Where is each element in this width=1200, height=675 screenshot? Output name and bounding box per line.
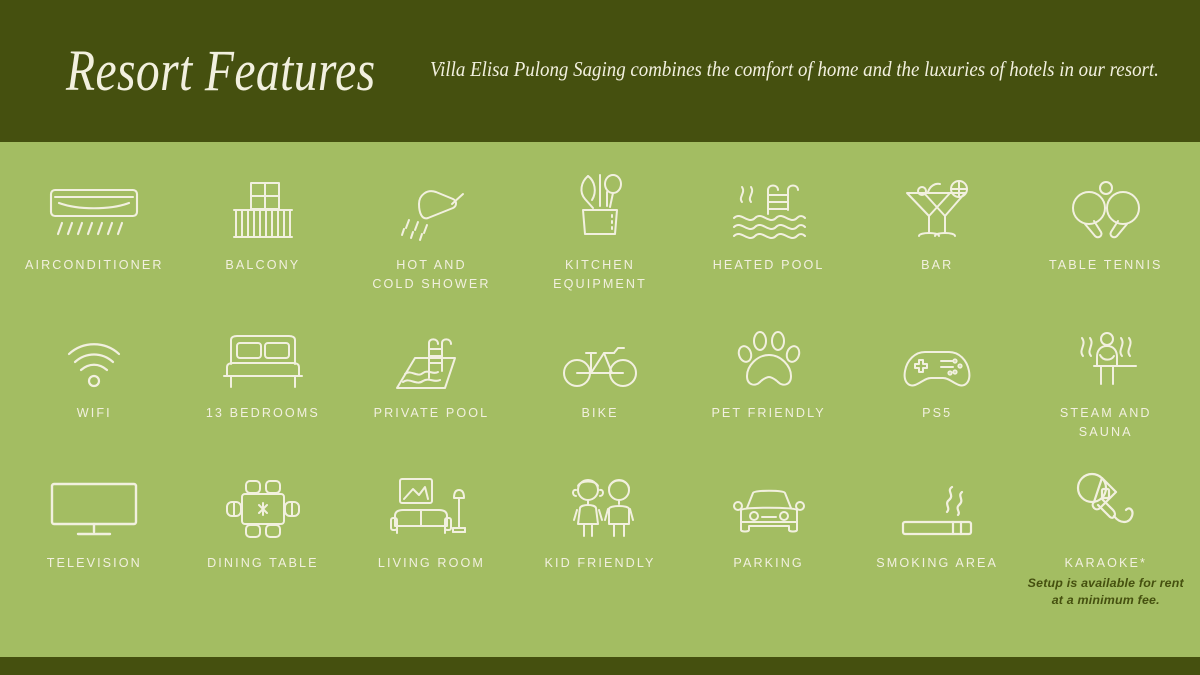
kitchen-utensils-icon [569, 170, 631, 242]
feature-label: DINING TABLE [207, 554, 319, 573]
feature-kitchen-equipment: KITCHEN EQUIPMENT [516, 170, 685, 320]
feature-label: STEAM AND SAUNA [1060, 404, 1152, 442]
private-pool-icon [393, 320, 469, 390]
feature-label: AIRCONDITIONER [25, 256, 164, 275]
feature-label: PS5 [922, 404, 952, 423]
bed-icon [221, 320, 305, 390]
feature-label: TABLE TENNIS [1049, 256, 1163, 275]
feature-label: LIVING ROOM [378, 554, 485, 573]
features-row-3: TELEVISION [10, 468, 1190, 628]
feature-balcony: BALCONY [179, 170, 348, 320]
microphone-icon [1067, 468, 1145, 540]
feature-living-room: LIVING ROOM [347, 468, 516, 628]
feature-label: WIFI [77, 404, 112, 423]
features-grid: AIRCONDITIONER [0, 142, 1200, 657]
children-icon [561, 468, 639, 540]
feature-label: TELEVISION [47, 554, 142, 573]
features-row-2: WIFI 13 BEDROOMS [10, 320, 1190, 468]
feature-heated-pool: HEATED POOL [684, 170, 853, 320]
feature-label: PRIVATE POOL [374, 404, 490, 423]
heated-pool-icon [730, 170, 808, 242]
feature-label: BALCONY [225, 256, 300, 275]
feature-television: TELEVISION [10, 468, 179, 628]
feature-label: HOT AND COLD SHOWER [372, 256, 490, 294]
dining-table-icon [220, 468, 306, 540]
header-band: Resort Features Villa Elisa Pulong Sagin… [0, 0, 1200, 142]
balcony-icon [231, 170, 295, 242]
television-icon [48, 468, 140, 540]
feature-label: SMOKING AREA [876, 554, 998, 573]
wifi-icon [66, 320, 122, 390]
sauna-icon [1070, 320, 1142, 390]
feature-label: KARAOKE* [1064, 554, 1147, 573]
feature-label: 13 BEDROOMS [206, 404, 320, 423]
gamepad-icon [897, 320, 977, 390]
slide: Resort Features Villa Elisa Pulong Sagin… [0, 0, 1200, 675]
living-room-icon [387, 468, 475, 540]
car-icon [729, 468, 809, 540]
feature-label: KID FRIENDLY [545, 554, 656, 573]
feature-bar: BAR [853, 170, 1022, 320]
karaoke-footnote: Setup is available for rent at a minimum… [1028, 575, 1184, 608]
feature-smoking-area: SMOKING AREA [853, 468, 1022, 628]
feature-table-tennis: TABLE TENNIS [1021, 170, 1190, 320]
airconditioner-icon [46, 170, 142, 242]
feature-ps5: PS5 [853, 320, 1022, 468]
feature-airconditioner: AIRCONDITIONER [10, 170, 179, 320]
cocktail-icon [902, 170, 972, 242]
feature-parking: PARKING [684, 468, 853, 628]
page-title: Resort Features [66, 42, 376, 100]
page-subtitle: Villa Elisa Pulong Saging combines the c… [430, 57, 1159, 82]
feature-label: BIKE [581, 404, 618, 423]
feature-label: PET FRIENDLY [711, 404, 825, 423]
feature-bedrooms: 13 BEDROOMS [179, 320, 348, 468]
table-tennis-icon [1068, 170, 1144, 242]
bicycle-icon [562, 320, 638, 390]
feature-wifi: WIFI [10, 320, 179, 468]
feature-bike: BIKE [516, 320, 685, 468]
feature-dining-table: DINING TABLE [179, 468, 348, 628]
paw-icon [736, 320, 802, 390]
features-row-1: AIRCONDITIONER [10, 170, 1190, 320]
feature-private-pool: PRIVATE POOL [347, 320, 516, 468]
feature-karaoke: KARAOKE* Setup is available for rent at … [1021, 468, 1190, 628]
feature-label: KITCHEN EQUIPMENT [553, 256, 647, 294]
feature-label: BAR [921, 256, 953, 275]
footer-band [0, 657, 1200, 675]
feature-label: PARKING [733, 554, 803, 573]
cigarette-icon [897, 468, 977, 540]
feature-hot-cold-shower: HOT AND COLD SHOWER [347, 170, 516, 320]
feature-kid-friendly: KID FRIENDLY [516, 468, 685, 628]
feature-steam-sauna: STEAM AND SAUNA [1021, 320, 1190, 468]
feature-pet-friendly: PET FRIENDLY [684, 320, 853, 468]
feature-label: HEATED POOL [713, 256, 825, 275]
shower-icon [395, 170, 467, 242]
